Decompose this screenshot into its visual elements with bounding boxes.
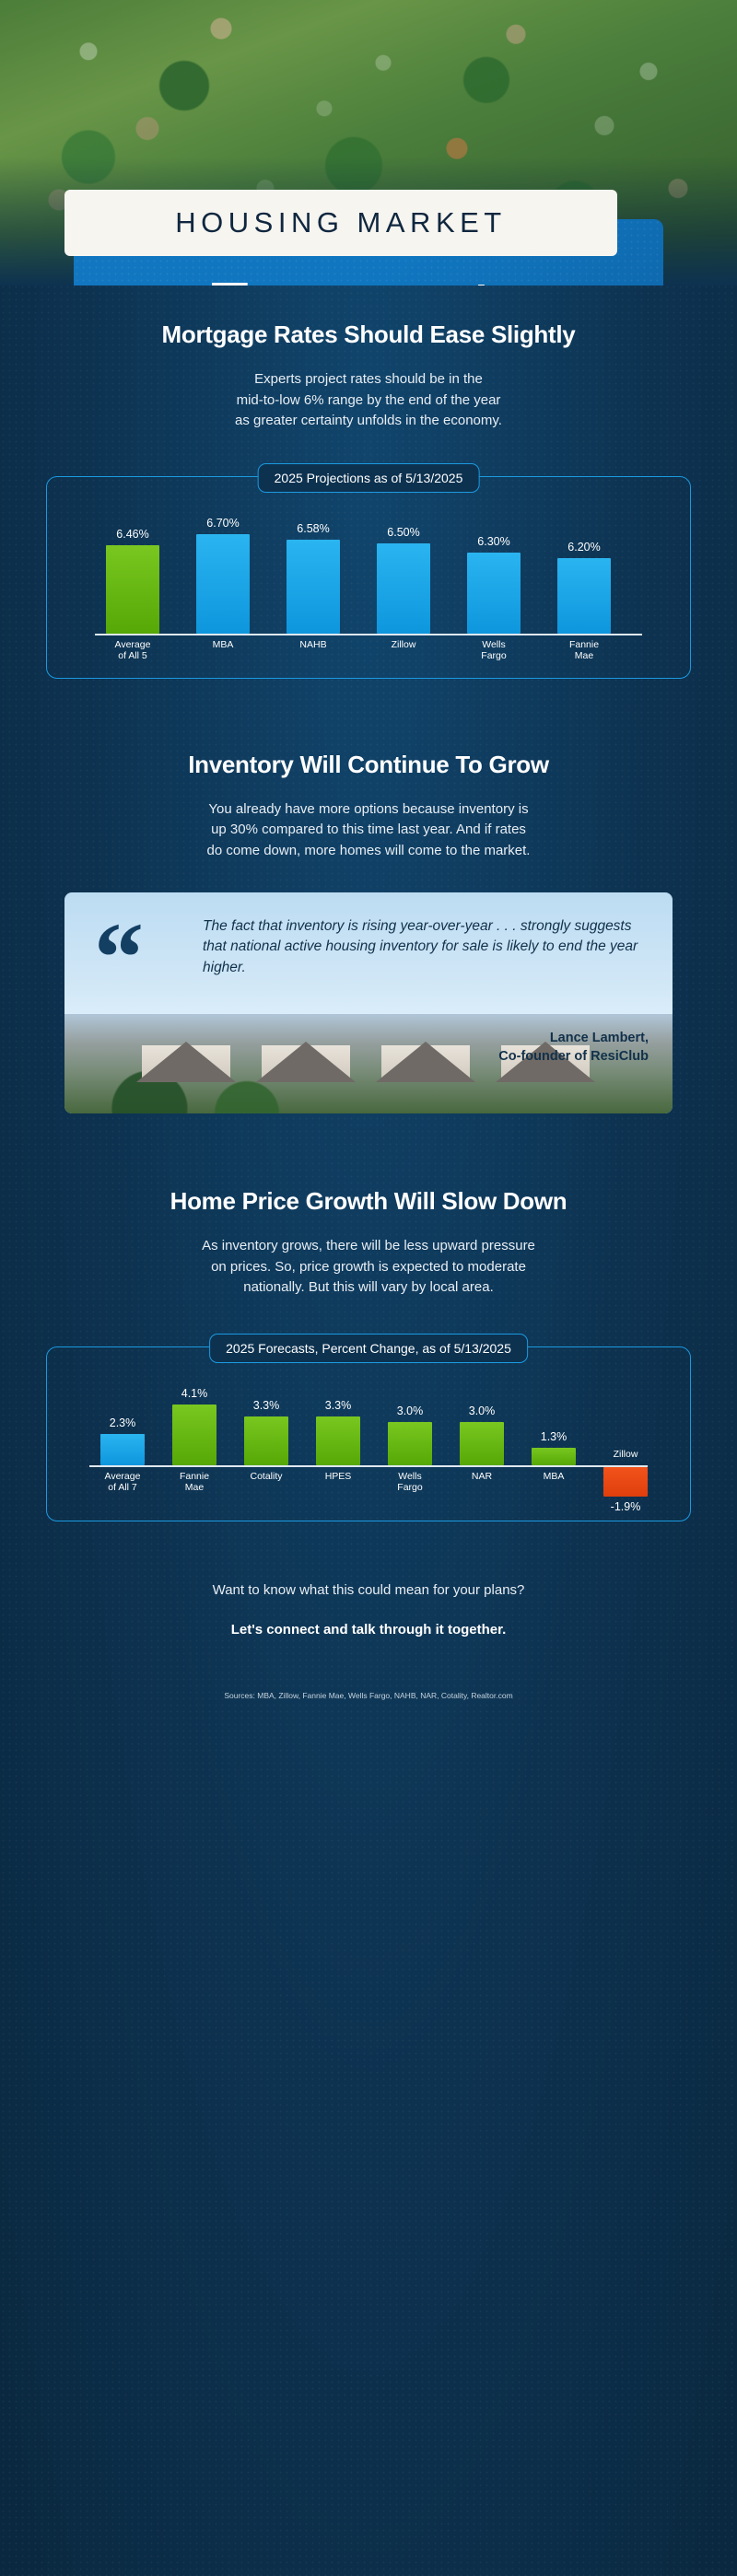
quote-attribution: Lance Lambert, Co-founder of ResiClub xyxy=(498,1029,649,1066)
bar xyxy=(287,540,340,634)
chart-2-category-label: Cotality xyxy=(240,1471,292,1483)
bar-value-label: -1.9% xyxy=(611,1500,641,1513)
bar-value-label: 3.0% xyxy=(469,1405,496,1417)
section-2-heading: Inventory Will Continue To Grow xyxy=(0,751,737,779)
section-2-body: You already have more options because in… xyxy=(124,799,613,862)
section-inventory: Inventory Will Continue To Grow You alre… xyxy=(0,751,737,862)
section-3-heading: Home Price Growth Will Slow Down xyxy=(0,1187,737,1216)
chart-1-bar-group: 6.30% xyxy=(467,529,521,634)
hero-badge-label: HOUSING MARKET xyxy=(175,206,506,239)
chart-2-bar-group: -1.9% xyxy=(603,1467,648,1519)
chart-1-category-label: Average of All 5 xyxy=(106,639,159,663)
chart-2-bar-group: 3.0% xyxy=(388,1404,432,1465)
chart-2-category-label: MBA xyxy=(528,1471,579,1483)
bar xyxy=(467,553,521,634)
chart-2-bar-group: 3.0% xyxy=(460,1404,504,1465)
infographic-page: Forecasts FOR THE SECOND HALF OF 2025 HO… xyxy=(0,0,737,2576)
bar-value-label: 2.3% xyxy=(110,1416,136,1429)
chart-2-category-label: Wells Fargo xyxy=(384,1471,436,1495)
bar-value-label: 4.1% xyxy=(181,1387,208,1400)
cta-line-1: Want to know what this could mean for yo… xyxy=(0,1582,737,1598)
chart-2-bar-group: 3.3% xyxy=(316,1398,360,1465)
chart-1-bar-group: 6.58% xyxy=(287,516,340,634)
section-home-prices: Home Price Growth Will Slow Down As inve… xyxy=(0,1187,737,1299)
section-1-heading: Mortgage Rates Should Ease Slightly xyxy=(0,321,737,349)
hero-badge: HOUSING MARKET xyxy=(64,190,617,256)
bar-value-label: 6.30% xyxy=(477,535,509,548)
chart-1-bar-group: 6.20% xyxy=(557,534,611,634)
chart-1-category-label: Zillow xyxy=(377,639,430,651)
chart-card-mortgage-rates: 2025 Projections as of 5/13/2025 6.46% A… xyxy=(46,476,691,679)
chart-1-bar-group: 6.50% xyxy=(377,519,430,634)
footer-cta: Want to know what this could mean for yo… xyxy=(0,1582,737,1638)
bar xyxy=(377,543,430,634)
chart-2-category-label: Fannie Mae xyxy=(169,1471,220,1495)
bar-value-label: 6.20% xyxy=(567,541,600,554)
house-roof xyxy=(136,1042,236,1082)
chart-1-axis xyxy=(95,634,642,635)
chart-1-category-label: Wells Fargo xyxy=(467,639,521,663)
bar-value-label: 3.3% xyxy=(253,1399,280,1412)
bar xyxy=(532,1448,576,1465)
chart-1-plot: 6.46% Average of All 5 6.70% MBA 6.58% N… xyxy=(47,477,690,680)
chart-2-category-label: Average of All 7 xyxy=(97,1471,148,1495)
chart-2-bar-group: 4.1% xyxy=(172,1386,216,1465)
house-roof xyxy=(256,1042,356,1082)
chart-2-bar-group: 2.3% xyxy=(100,1416,145,1465)
cta-line-2: Let's connect and talk through it togeth… xyxy=(0,1622,737,1638)
bar xyxy=(316,1416,360,1465)
section-3-body: As inventory grows, there will be less u… xyxy=(120,1236,617,1299)
chart-2-plot: 2.3% Average of All 7 4.1% Fannie Mae 3.… xyxy=(47,1347,690,1522)
section-mortgage-rates: Mortgage Rates Should Ease Slightly Expe… xyxy=(0,321,737,432)
bar xyxy=(244,1416,288,1465)
chart-1-category-label: NAHB xyxy=(287,639,340,651)
chart-2-category-label: HPES xyxy=(312,1471,364,1483)
chart-2-category-label: NAR xyxy=(456,1471,508,1483)
chart-2-category-label: Zillow xyxy=(600,1449,651,1461)
bar xyxy=(106,545,159,634)
bar xyxy=(557,558,611,634)
bar xyxy=(172,1405,216,1465)
hero-title: Forecasts xyxy=(74,273,663,286)
bar-value-label: 6.50% xyxy=(387,526,419,539)
house-roof xyxy=(376,1042,475,1082)
bar-value-label: 6.58% xyxy=(297,522,329,535)
bar-value-label: 3.3% xyxy=(325,1399,352,1412)
bar-value-label: 6.70% xyxy=(206,517,239,530)
bar xyxy=(196,534,250,634)
bar-value-label: 6.46% xyxy=(116,528,148,541)
chart-1-bar-group: 6.46% xyxy=(106,521,159,634)
chart-1-bar-group: 6.70% xyxy=(196,510,250,634)
bar xyxy=(603,1467,648,1497)
quote-text: The fact that inventory is rising year-o… xyxy=(203,916,643,978)
chart-2-bar-group: 1.3% xyxy=(532,1429,576,1465)
bar xyxy=(100,1434,145,1465)
section-1-body: Experts project rates should be in the m… xyxy=(175,369,562,432)
quote-card: “ The fact that inventory is rising year… xyxy=(64,892,673,1113)
chart-2-axis xyxy=(89,1465,648,1467)
hero-section: Forecasts FOR THE SECOND HALF OF 2025 HO… xyxy=(0,0,737,286)
chart-1-category-label: MBA xyxy=(196,639,250,651)
bar-value-label: 1.3% xyxy=(541,1430,567,1443)
bar xyxy=(460,1422,504,1465)
chart-1-category-label: Fannie Mae xyxy=(557,639,611,663)
sources-line: Sources: MBA, Zillow, Fannie Mae, Wells … xyxy=(0,1691,737,1700)
bar xyxy=(388,1422,432,1465)
chart-card-price-growth: 2025 Forecasts, Percent Change, as of 5/… xyxy=(46,1346,691,1521)
quote-mark-icon: “ xyxy=(94,909,144,1008)
bar-value-label: 3.0% xyxy=(397,1405,424,1417)
chart-2-bar-group: 3.3% xyxy=(244,1398,288,1465)
